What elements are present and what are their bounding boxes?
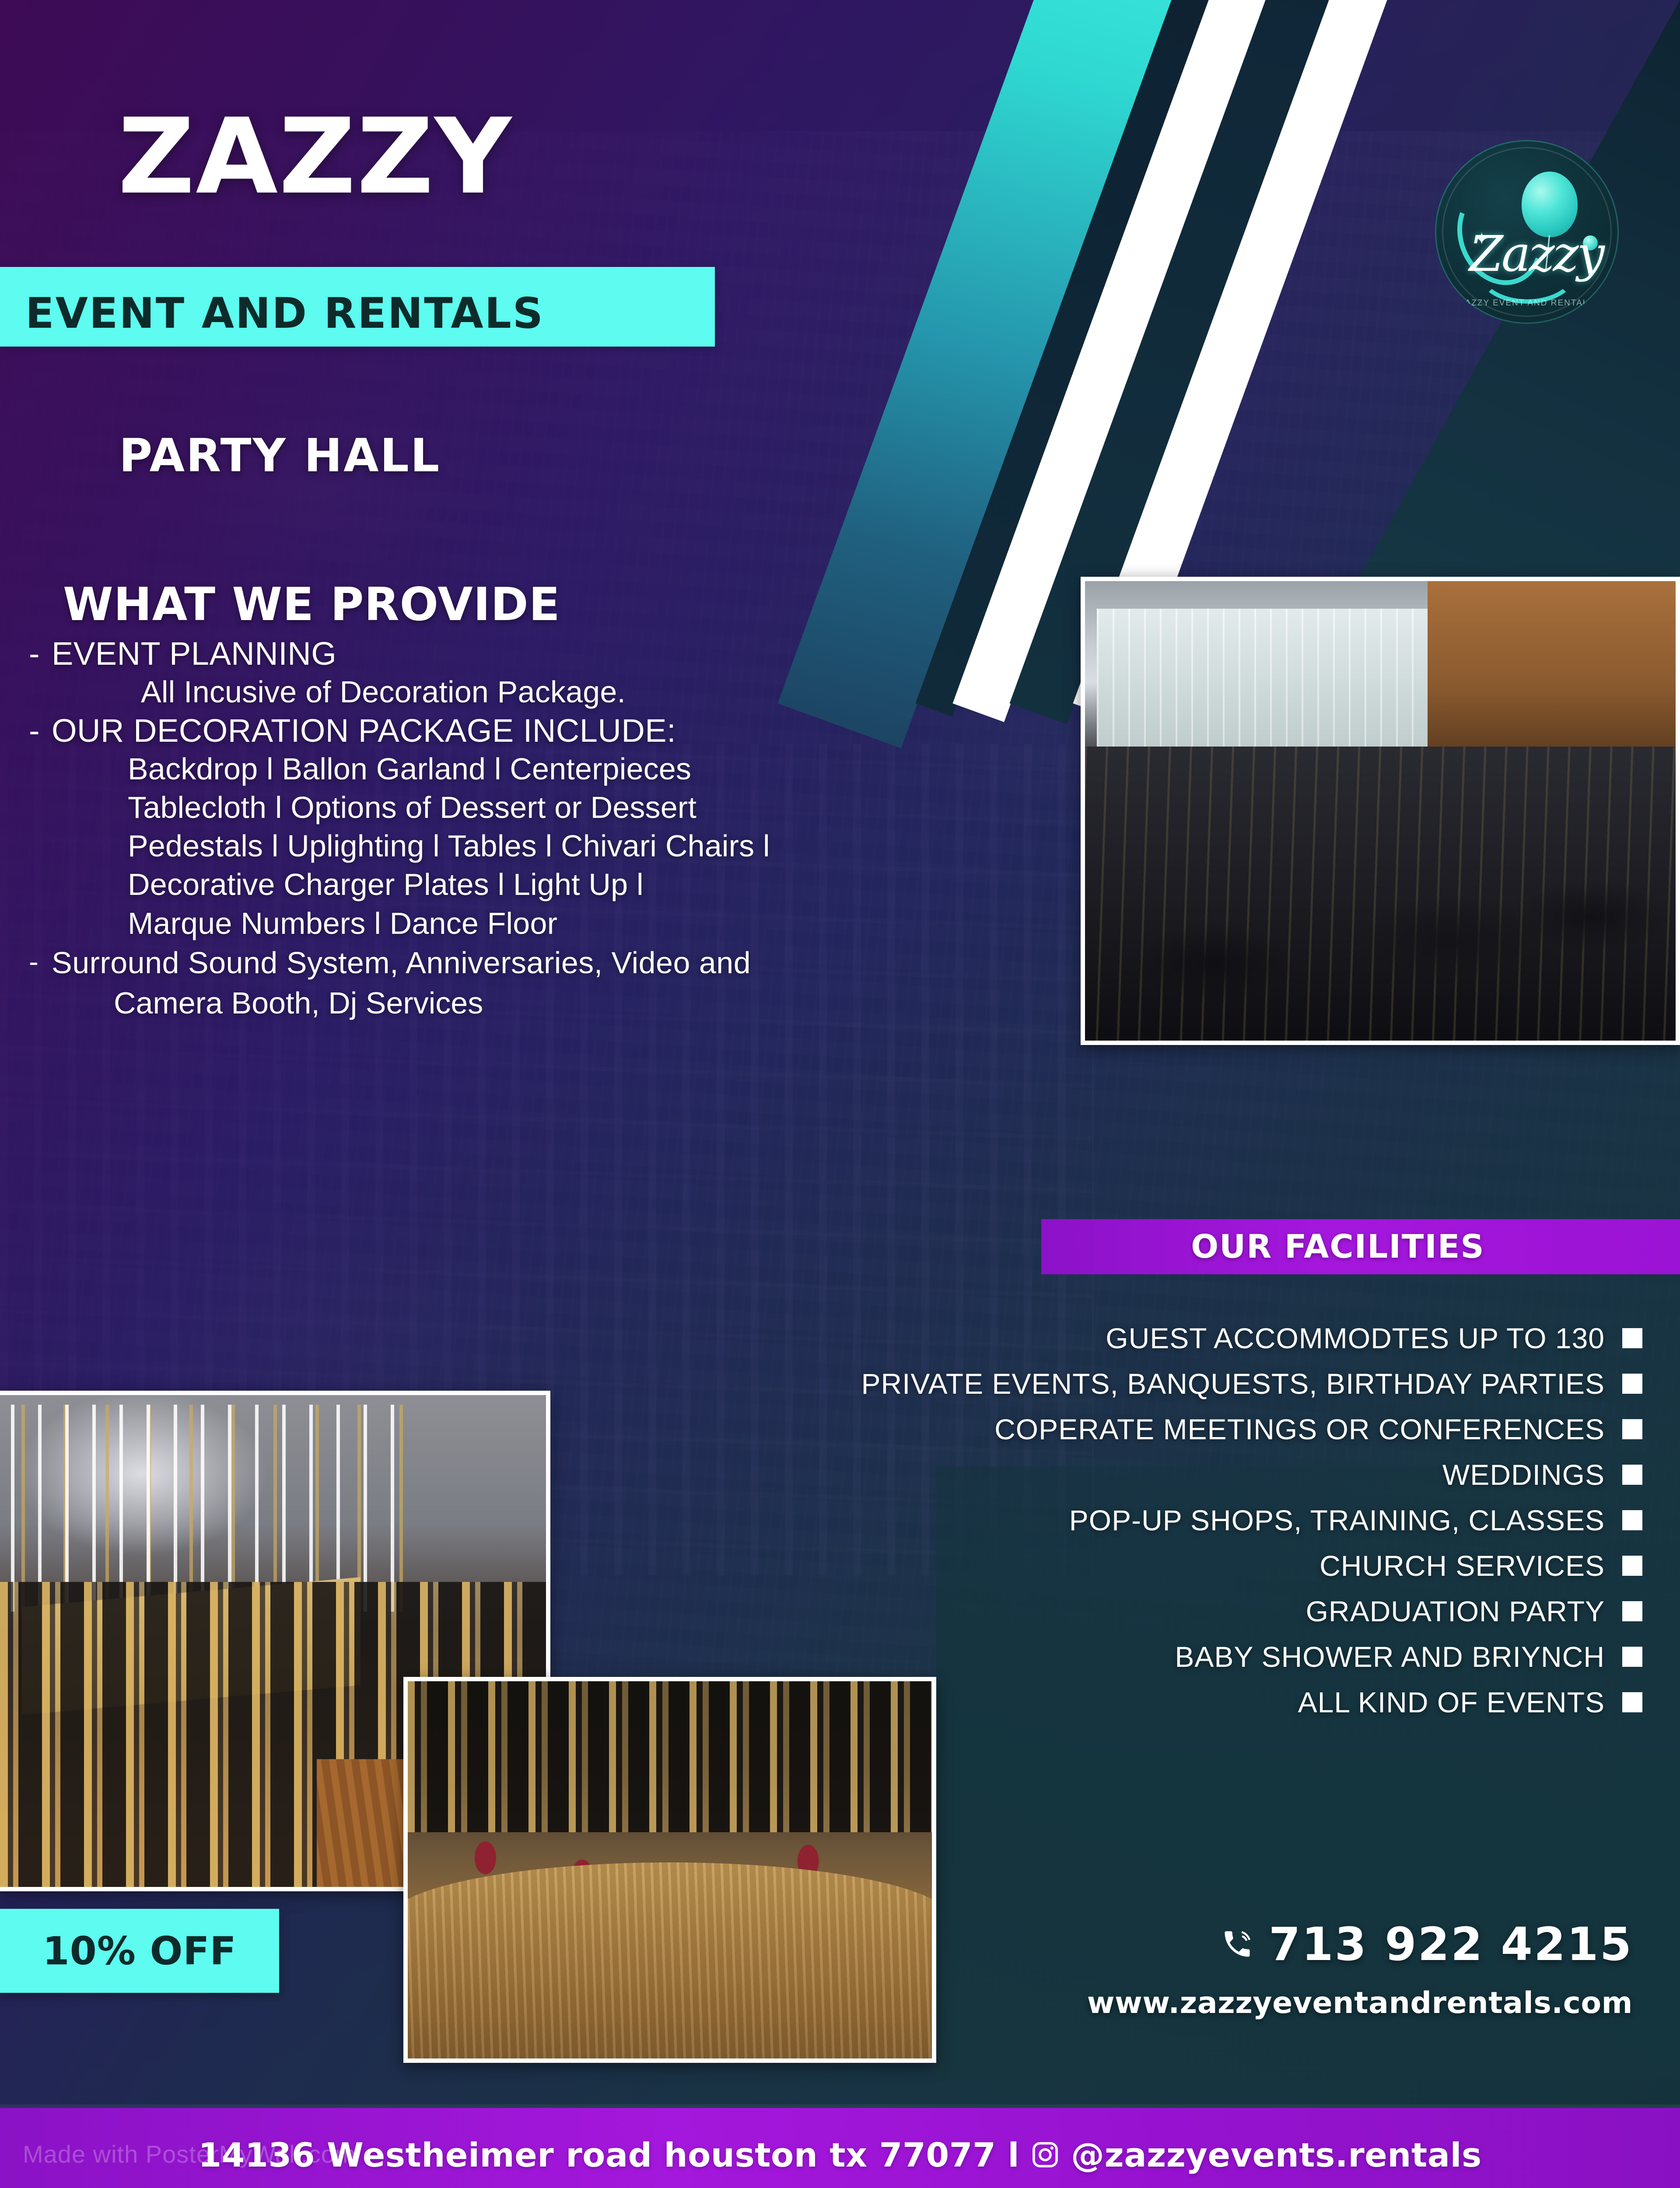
package-line: Marque Numbers l Dance Floor: [128, 904, 1079, 943]
photo-round-table-setting: [403, 1677, 936, 2063]
facility-row: PRIVATE EVENTS, BANQUESTS, BIRTHDAY PART…: [592, 1367, 1642, 1400]
logo-curved-text: ZAZZY EVENT AND RENTALS: [1435, 298, 1619, 308]
package-line: Tablecloth l Options of Dessert or Desse…: [128, 788, 1079, 827]
bullet-dash: -: [29, 712, 52, 750]
facility-bullet-square-icon: [1622, 1647, 1642, 1667]
bullet-dash: -: [29, 635, 52, 673]
brand-tagline-bar: EVENT AND RENTALS: [0, 267, 715, 347]
photo-banquet-hall-image: [1085, 581, 1676, 1041]
facility-row: POP-UP SHOPS, TRAINING, CLASSES: [592, 1504, 1642, 1537]
facility-bullet-square-icon: [1622, 1465, 1642, 1485]
provide-item-3-cont: Camera Booth, Dj Services: [114, 983, 1079, 1023]
photo-gold-tablecloth: [403, 1862, 936, 2063]
photo-window-wall: [1097, 609, 1428, 747]
facility-label: WEDDINGS: [1442, 1458, 1605, 1491]
facility-bullet-square-icon: [1622, 1328, 1642, 1348]
photo-gold-candelabra: [1392, 884, 1422, 958]
package-line: Decorative Charger Plates l Light Up l: [128, 865, 1079, 904]
facility-bullet-square-icon: [1622, 1419, 1642, 1439]
facility-bullet-square-icon: [1622, 1601, 1642, 1621]
provide-list: - EVENT PLANNING All Incusive of Decorat…: [29, 635, 1079, 1024]
provide-item-2: - OUR DECORATION PACKAGE INCLUDE:: [29, 712, 1079, 750]
instagram-icon[interactable]: [1031, 2140, 1060, 2169]
phone-number: 713 922 4215: [1269, 1918, 1633, 1971]
facility-label: POP-UP SHOPS, TRAINING, CLASSES: [1069, 1504, 1605, 1537]
promo-badge-label: 10% OFF: [42, 1929, 236, 1974]
facility-row: CHURCH SERVICES: [592, 1549, 1642, 1582]
facility-row: GRADUATION PARTY: [592, 1595, 1642, 1628]
photo-round-table: [1309, 884, 1640, 1045]
facility-label: GUEST ACCOMMODTES UP TO 130: [1106, 1322, 1605, 1355]
facilities-heading: OUR FACILITIES: [1191, 1228, 1530, 1266]
provide-item-3-label: Surround Sound System, Anniversaries, Vi…: [52, 943, 751, 983]
brand-name: ZAZZY: [118, 110, 512, 204]
facility-row: BABY SHOWER AND BRIYNCH: [592, 1640, 1642, 1673]
promo-badge[interactable]: 10% OFF: [0, 1909, 279, 1993]
facility-label: GRADUATION PARTY: [1306, 1595, 1605, 1628]
provide-item-2-label: OUR DECORATION PACKAGE INCLUDE:: [52, 712, 676, 750]
phone-row[interactable]: 713 922 4215: [1087, 1918, 1633, 1971]
page-subtitle: PARTY HALL: [119, 429, 441, 482]
provide-item-1-label: EVENT PLANNING: [52, 635, 336, 673]
footer-divider: [0, 2104, 1680, 2108]
brand-tagline: EVENT AND RENTALS: [25, 289, 544, 338]
facility-bullet-square-icon: [1622, 1692, 1642, 1712]
package-line: Pedestals l Uplighting l Tables l Chivar…: [128, 827, 1079, 865]
facilities-list: GUEST ACCOMMODTES UP TO 130 PRIVATE EVEN…: [592, 1322, 1642, 1731]
photo-round-table-image: [408, 1681, 932, 2058]
facility-bullet-square-icon: [1622, 1374, 1642, 1394]
facility-row: ALL KIND OF EVENTS: [592, 1686, 1642, 1719]
facility-row: WEDDINGS: [592, 1458, 1642, 1491]
facilities-banner: OUR FACILITIES: [1041, 1219, 1680, 1274]
provide-heading: WHAT WE PROVIDE: [63, 578, 560, 631]
provide-item-1: - EVENT PLANNING: [29, 635, 1079, 673]
footer-bar: 14136 Westheimer road houston tx 77077 l…: [0, 2108, 1680, 2188]
footer-instagram-handle[interactable]: @zazzyevents.rentals: [1071, 2135, 1482, 2174]
package-line: Backdrop l Ballon Garland l Centerpieces: [128, 750, 1079, 788]
provide-item-1-sub: All Incusive of Decoration Package.: [141, 673, 1079, 711]
photo-banquet-hall: [1081, 577, 1680, 1045]
facility-label: CHURCH SERVICES: [1319, 1549, 1605, 1582]
website-url[interactable]: www.zazzyeventandrentals.com: [1087, 1986, 1633, 2020]
facility-label: PRIVATE EVENTS, BANQUESTS, BIRTHDAY PART…: [861, 1367, 1605, 1400]
provide-item-3: - Surround Sound System, Anniversaries, …: [29, 943, 1079, 983]
facility-label: COPERATE MEETINGS OR CONFERENCES: [994, 1413, 1605, 1446]
zazzy-logo[interactable]: ✦ Zazzy ZAZZY EVENT AND RENTALS: [1435, 140, 1619, 324]
facility-row: COPERATE MEETINGS OR CONFERENCES: [592, 1413, 1642, 1446]
contact-block: 713 922 4215 www.zazzyeventandrentals.co…: [1087, 1918, 1633, 2020]
phone-icon: [1221, 1928, 1254, 1961]
facility-bullet-square-icon: [1622, 1556, 1642, 1576]
logo-script-text: Zazzy: [1469, 226, 1600, 283]
facility-label: BABY SHOWER AND BRIYNCH: [1175, 1640, 1605, 1673]
facility-row: GUEST ACCOMMODTES UP TO 130: [592, 1322, 1642, 1355]
facility-bullet-square-icon: [1622, 1510, 1642, 1530]
footer-address: 14136 Westheimer road houston tx 77077 l: [198, 2135, 1019, 2174]
bullet-dash: -: [29, 943, 52, 981]
facility-label: ALL KIND OF EVENTS: [1298, 1686, 1605, 1719]
